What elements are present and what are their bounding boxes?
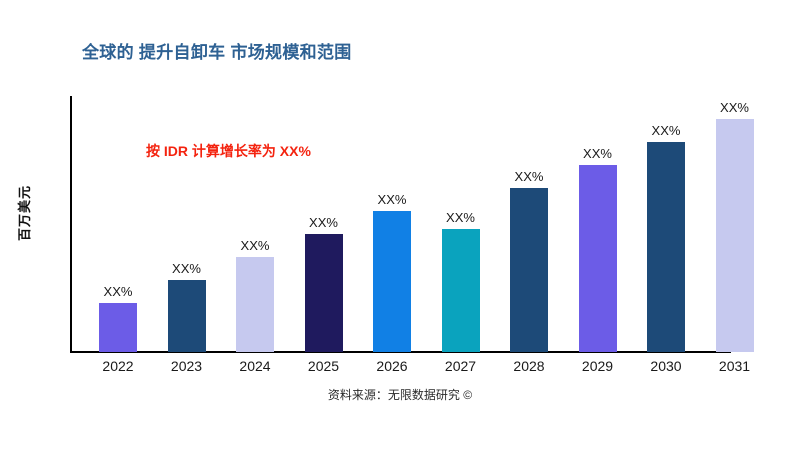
bar-value-label-2025: XX% <box>309 215 338 230</box>
bar-group: XX% <box>153 96 221 354</box>
bar-group: XX% <box>358 96 426 354</box>
bars-layer: XX%XX%XX%XX%XX%XX%XX%XX%XX%XX% <box>70 96 800 354</box>
bar-2031[interactable] <box>716 119 754 352</box>
cagr-annotation: 按 IDR 计算增长率为 XX% <box>146 141 311 161</box>
bar-group: XX% <box>290 96 358 354</box>
bar-value-label-2031: XX% <box>720 100 749 115</box>
x-tick-2024: 2024 <box>221 358 289 374</box>
bar-group: XX% <box>221 96 289 354</box>
bar-value-label-2023: XX% <box>172 261 201 276</box>
x-tick-2027: 2027 <box>427 358 495 374</box>
bar-2024[interactable] <box>236 257 274 352</box>
bar-value-label-2024: XX% <box>241 238 270 253</box>
bar-value-label-2022: XX% <box>104 284 133 299</box>
bar-2026[interactable] <box>373 211 411 352</box>
bar-group: XX% <box>632 96 700 354</box>
bar-group: XX% <box>427 96 495 354</box>
bar-2028[interactable] <box>510 188 548 352</box>
x-tick-2029: 2029 <box>564 358 632 374</box>
x-tick-2026: 2026 <box>358 358 426 374</box>
x-tick-2025: 2025 <box>290 358 358 374</box>
x-axis-tick-labels: 2022202320242025202620272028202920302031 <box>70 358 800 380</box>
x-tick-2028: 2028 <box>495 358 563 374</box>
bar-2029[interactable] <box>579 165 617 352</box>
bar-group: XX% <box>84 96 152 354</box>
page-title: 全球的 提升自卸车 市场规模和范围 <box>82 38 352 63</box>
bar-2022[interactable] <box>99 303 137 352</box>
bar-value-label-2030: XX% <box>652 123 681 138</box>
bar-value-label-2027: XX% <box>446 210 475 225</box>
bar-2027[interactable] <box>442 229 480 352</box>
bar-2025[interactable] <box>305 234 343 352</box>
source-note: 资料来源：无限数据研究 © <box>0 386 800 403</box>
bar-group: XX% <box>495 96 563 354</box>
y-axis-label: 百万美元 <box>14 158 33 268</box>
bar-group: XX% <box>701 96 769 354</box>
chart-container: 全球的 提升自卸车 市场规模和范围 百万美元 XX%XX%XX%XX%XX%XX… <box>0 0 800 450</box>
x-tick-2031: 2031 <box>701 358 769 374</box>
bar-value-label-2029: XX% <box>583 146 612 161</box>
bar-group: XX% <box>564 96 632 354</box>
x-tick-2022: 2022 <box>84 358 152 374</box>
x-tick-2030: 2030 <box>632 358 700 374</box>
bar-2023[interactable] <box>168 280 206 352</box>
bar-2030[interactable] <box>647 142 685 352</box>
bar-value-label-2028: XX% <box>515 169 544 184</box>
x-tick-2023: 2023 <box>153 358 221 374</box>
bar-value-label-2026: XX% <box>378 192 407 207</box>
